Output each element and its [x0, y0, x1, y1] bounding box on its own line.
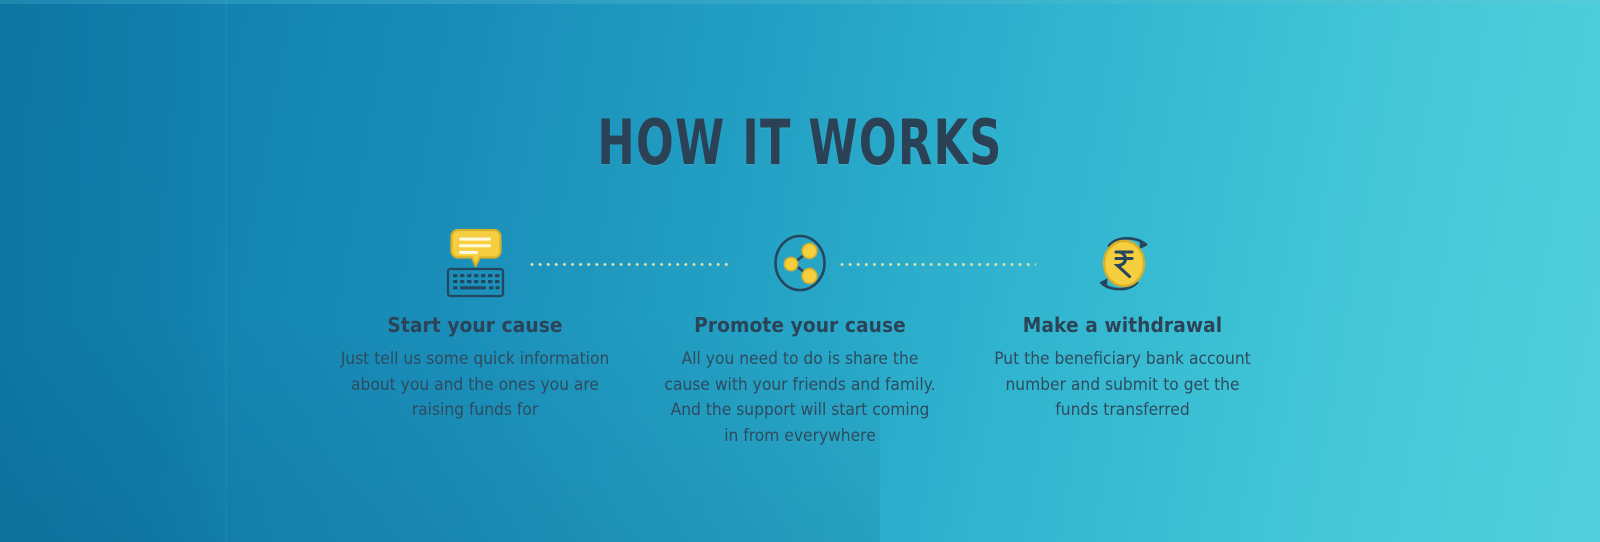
step-3-title: Make a withdrawal [985, 313, 1259, 337]
step-1-icon-wrap [330, 225, 620, 300]
page-title: HOW IT WORKS [160, 112, 1440, 174]
step-3-icon-wrap [975, 225, 1270, 300]
background-left-shade [0, 0, 230, 542]
step-promote-your-cause: Promote your cause All you need to do is… [655, 225, 945, 448]
how-it-works-banner: HOW IT WORKS [0, 0, 1600, 542]
background-top-line [0, 0, 1600, 4]
step-2-icon-wrap [655, 225, 945, 300]
step-start-your-cause: Start your cause Just tell us some quick… [330, 225, 620, 423]
step-make-a-withdrawal: Make a withdrawal Put the beneficiary ba… [975, 225, 1270, 423]
chat-keyboard-icon [444, 227, 506, 299]
steps-container: Start your cause Just tell us some quick… [330, 225, 1270, 485]
share-network-icon [769, 227, 831, 299]
step-2-description: All you need to do is share the cause wi… [664, 346, 937, 448]
step-3-description: Put the beneficiary bank account number … [984, 346, 1261, 423]
rupee-coin-exchange-icon [1088, 227, 1158, 299]
step-1-description: Just tell us some quick information abou… [339, 346, 612, 423]
background-vertical-seam [225, 0, 227, 542]
step-2-title: Promote your cause [665, 313, 935, 337]
step-1-title: Start your cause [340, 313, 610, 337]
